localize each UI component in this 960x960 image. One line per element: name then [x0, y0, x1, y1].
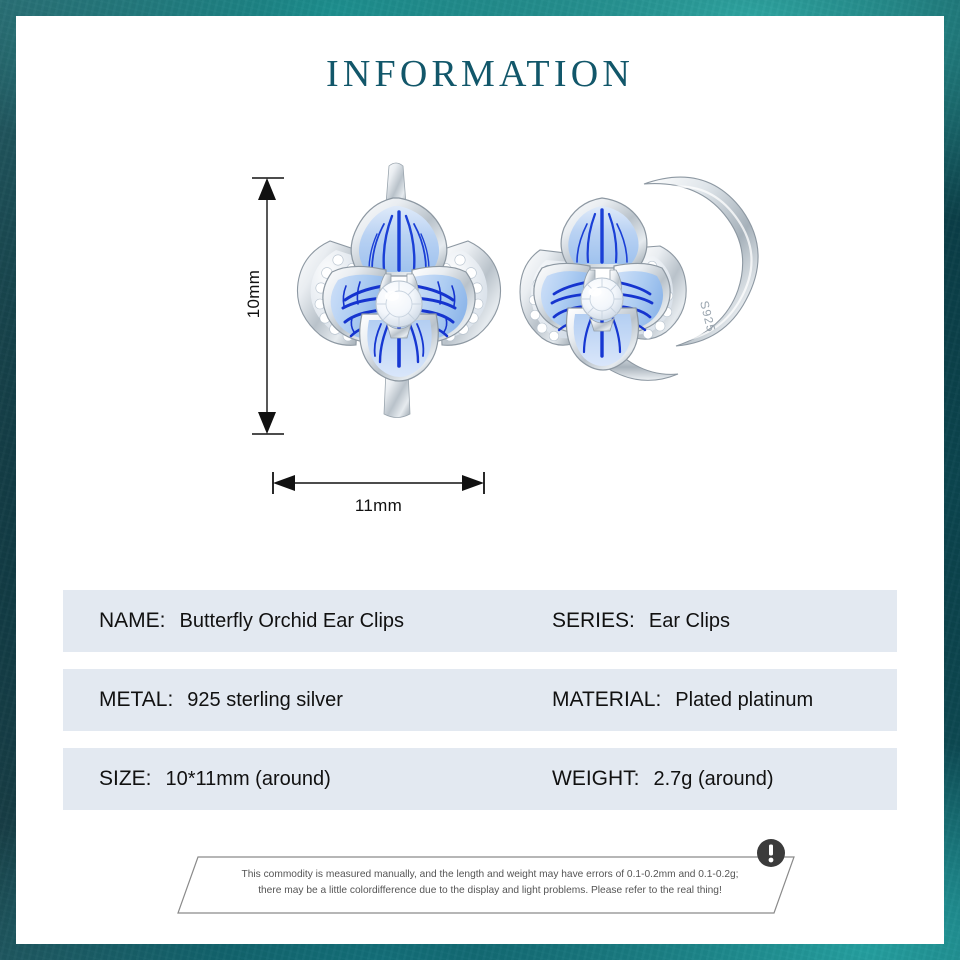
spec-label-metal: METAL:: [99, 688, 173, 712]
spec-value-material: Plated platinum: [675, 689, 813, 712]
spec-label-weight: WEIGHT:: [552, 767, 640, 791]
spec-value-series: Ear Clips: [649, 610, 730, 633]
spec-cell-size: SIZE: 10*11mm (around): [99, 767, 552, 791]
disclaimer-line-1: This commodity is measured manually, and…: [212, 867, 768, 883]
specification-table: NAME: Butterfly Orchid Ear Clips SERIES:…: [63, 590, 897, 827]
product-image-area: 10mm 11mm: [16, 146, 944, 566]
disclaimer-line-2: there may be a little colordifference du…: [212, 883, 768, 899]
earring-left: [297, 163, 500, 418]
earring-right: S925: [520, 177, 758, 380]
information-card: INFORMATION 10mm 11mm: [16, 16, 944, 944]
exclamation-icon: [756, 838, 786, 868]
earring-pair-illustration: S925: [266, 146, 786, 446]
spec-label-series: SERIES:: [552, 609, 635, 633]
table-row: SIZE: 10*11mm (around) WEIGHT: 2.7g (aro…: [63, 748, 897, 810]
earring-product-photo: S925: [266, 146, 786, 446]
page-title: INFORMATION: [16, 52, 944, 96]
table-row: NAME: Butterfly Orchid Ear Clips SERIES:…: [63, 590, 897, 652]
spec-cell-name: NAME: Butterfly Orchid Ear Clips: [99, 609, 552, 633]
disclaimer-note: This commodity is measured manually, and…: [176, 854, 796, 916]
dimension-width-arrow-icon: [271, 466, 521, 496]
spec-cell-weight: WEIGHT: 2.7g (around): [552, 767, 897, 791]
spec-label-material: MATERIAL:: [552, 688, 661, 712]
dimension-width-indicator: 11mm: [271, 466, 521, 526]
spec-cell-metal: METAL: 925 sterling silver: [99, 688, 552, 712]
spec-label-size: SIZE:: [99, 767, 152, 791]
silver-stamp-s925: S925: [697, 299, 718, 333]
dimension-width-label: 11mm: [271, 496, 486, 516]
dimension-height-label: 10mm: [244, 244, 264, 344]
spec-value-name: Butterfly Orchid Ear Clips: [180, 610, 405, 633]
spec-value-weight: 2.7g (around): [654, 768, 774, 791]
spec-cell-material: MATERIAL: Plated platinum: [552, 688, 897, 712]
spec-cell-series: SERIES: Ear Clips: [552, 609, 897, 633]
spec-value-metal: 925 sterling silver: [187, 689, 343, 712]
spec-label-name: NAME:: [99, 609, 166, 633]
spec-value-size: 10*11mm (around): [166, 768, 331, 791]
disclaimer-text: This commodity is measured manually, and…: [212, 867, 768, 898]
table-row: METAL: 925 sterling silver MATERIAL: Pla…: [63, 669, 897, 731]
